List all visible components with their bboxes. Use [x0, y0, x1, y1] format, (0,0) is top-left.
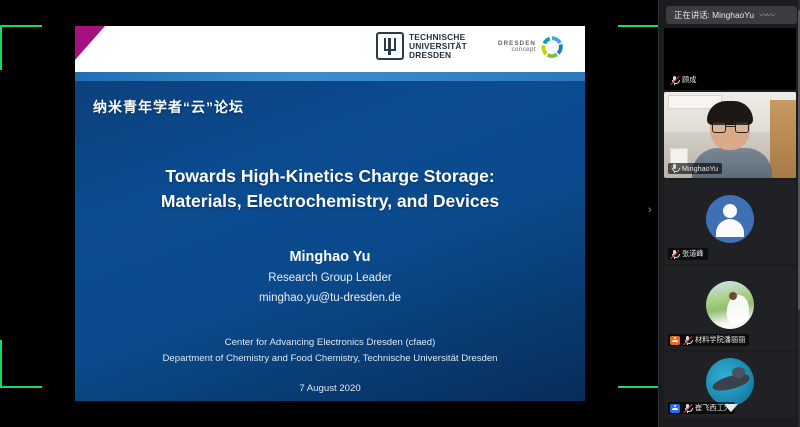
participant-name: 顾成	[682, 75, 696, 85]
host-badge-icon	[670, 336, 680, 345]
slide-header: TECHNISCHE UNIVERSITÄT DRESDEN DRESDEN c…	[75, 26, 585, 72]
dresden-concept-logo: DRESDEN concept	[498, 36, 563, 58]
tu-logo-line-2: UNIVERSITÄT	[409, 42, 467, 50]
microphone-muted-icon	[670, 76, 679, 85]
slide-body: 纳米青年学者“云”论坛 Towards High-Kinetics Charge…	[75, 81, 585, 401]
participants-panel: 正在讲话: MinghaoYu 〰〰 顾成	[658, 0, 800, 427]
default-avatar-icon	[706, 195, 754, 243]
speaking-wave-icon: 〰〰	[759, 6, 774, 24]
collapse-panel-arrow-icon[interactable]: ›	[648, 205, 652, 216]
slide-blue-strip	[75, 72, 585, 81]
participant-tile[interactable]: 材料学院潘丽丽	[664, 266, 796, 350]
participant-namebar: MinghaoYu	[668, 163, 722, 174]
tu-logo-line-1: TECHNISCHE	[409, 33, 467, 41]
participant-name: 材料学院潘丽丽	[695, 335, 745, 345]
slide-title-line-2: Materials, Electrochemistry, and Devices	[75, 189, 585, 214]
microphone-active-icon	[670, 164, 679, 173]
active-speaker-label: 正在讲话: MinghaoYu	[674, 10, 754, 20]
tu-dresden-mark-icon	[376, 32, 404, 60]
magenta-corner-accent	[75, 26, 105, 60]
participant-namebar: 张道峰	[668, 248, 708, 260]
presenter-role: Research Group Leader	[75, 272, 585, 284]
cohost-badge-icon	[670, 404, 680, 413]
screen-share-bracket-top-left	[0, 25, 42, 70]
zoom-meeting-window: TECHNISCHE UNIVERSITÄT DRESDEN DRESDEN c…	[0, 0, 800, 427]
participant-tile-active-speaker[interactable]: MinghaoYu	[664, 92, 796, 178]
participant-namebar: 顾成	[668, 74, 700, 86]
screen-share-bracket-bottom-left	[0, 340, 42, 388]
microphone-muted-icon	[670, 250, 679, 259]
dresden-concept-ring-icon	[541, 36, 563, 58]
slide-title: Towards High-Kinetics Charge Storage: Ma…	[75, 164, 585, 214]
participant-name: MinghaoYu	[682, 164, 718, 173]
participant-tile[interactable]: 张道峰	[664, 180, 796, 264]
tu-dresden-logo: TECHNISCHE UNIVERSITÄT DRESDEN	[376, 32, 467, 60]
slide-title-line-1: Towards High-Kinetics Charge Storage:	[75, 164, 585, 189]
affiliation-line-1: Center for Advancing Electronics Dresden…	[75, 337, 585, 348]
scroll-down-triangle-icon[interactable]	[724, 404, 738, 412]
shared-slide: TECHNISCHE UNIVERSITÄT DRESDEN DRESDEN c…	[75, 26, 585, 401]
presentation-date: 7 August 2020	[75, 383, 585, 394]
dolphin-avatar	[706, 358, 754, 406]
photo-avatar	[706, 281, 754, 329]
active-speaker-banner: 正在讲话: MinghaoYu 〰〰	[666, 6, 797, 24]
dresden-concept-line-2: concept	[498, 47, 536, 54]
microphone-muted-icon	[683, 336, 692, 345]
affiliation-line-2: Department of Chemistry and Food Chemist…	[75, 353, 585, 364]
presenter-email: minghao.yu@tu-dresden.de	[75, 292, 585, 304]
microphone-muted-icon	[683, 404, 692, 413]
participant-namebar: 材料学院潘丽丽	[668, 334, 749, 346]
tu-logo-line-3: DRESDEN	[409, 51, 467, 59]
participant-tile[interactable]: 顾成	[664, 28, 796, 90]
participant-name: 张道峰	[682, 249, 704, 259]
presenter-name: Minghao Yu	[75, 249, 585, 265]
forum-name: 纳米青年学者“云”论坛	[93, 97, 244, 117]
